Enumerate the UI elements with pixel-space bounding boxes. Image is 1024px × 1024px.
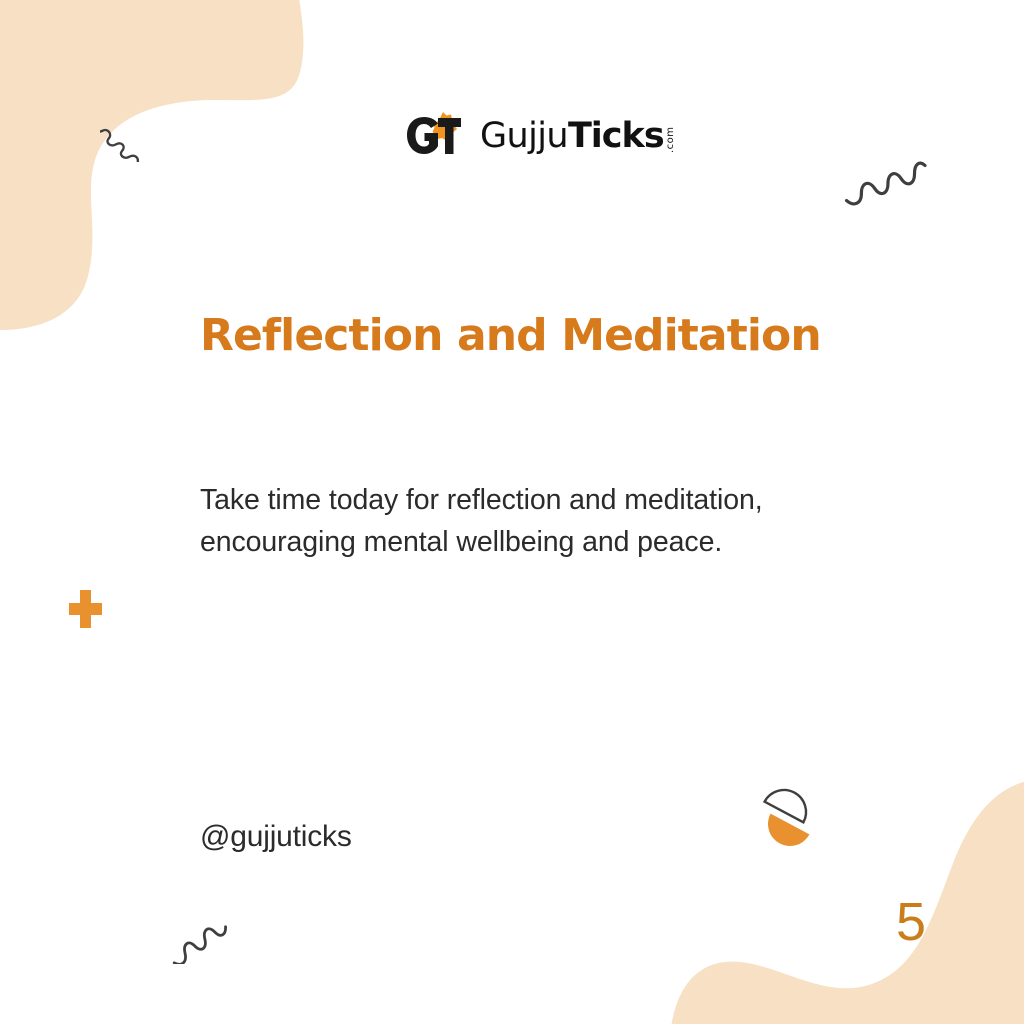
blob-top-left — [0, 0, 303, 330]
squiggle-top-left-icon — [100, 98, 162, 162]
slide-body-text: Take time today for reflection and medit… — [200, 479, 800, 563]
logo-wordmark: GujjuTicks .com — [480, 119, 676, 154]
brand-logo[interactable]: GujjuTicks .com — [405, 108, 676, 164]
half-circle-pair-icon — [756, 784, 820, 850]
page-number: 5 — [896, 895, 926, 949]
slide-title: Reflection and Meditation — [200, 311, 840, 360]
blob-bottom-right — [670, 780, 1024, 1024]
squiggle-top-right-icon — [840, 140, 932, 206]
logo-tld: .com — [666, 123, 676, 153]
blob-bottom-right-body — [678, 790, 1024, 1024]
slide-canvas: GujjuTicks .com Reflection and Meditatio… — [0, 0, 1024, 1024]
social-handle[interactable]: @gujjuticks — [200, 820, 352, 854]
plus-icon — [67, 588, 103, 630]
logo-name-light: Gujju — [480, 116, 568, 156]
squiggle-bottom-left-icon — [164, 898, 234, 964]
gt-monogram-icon — [405, 110, 467, 162]
logo-name-bold: Ticks — [568, 116, 664, 156]
